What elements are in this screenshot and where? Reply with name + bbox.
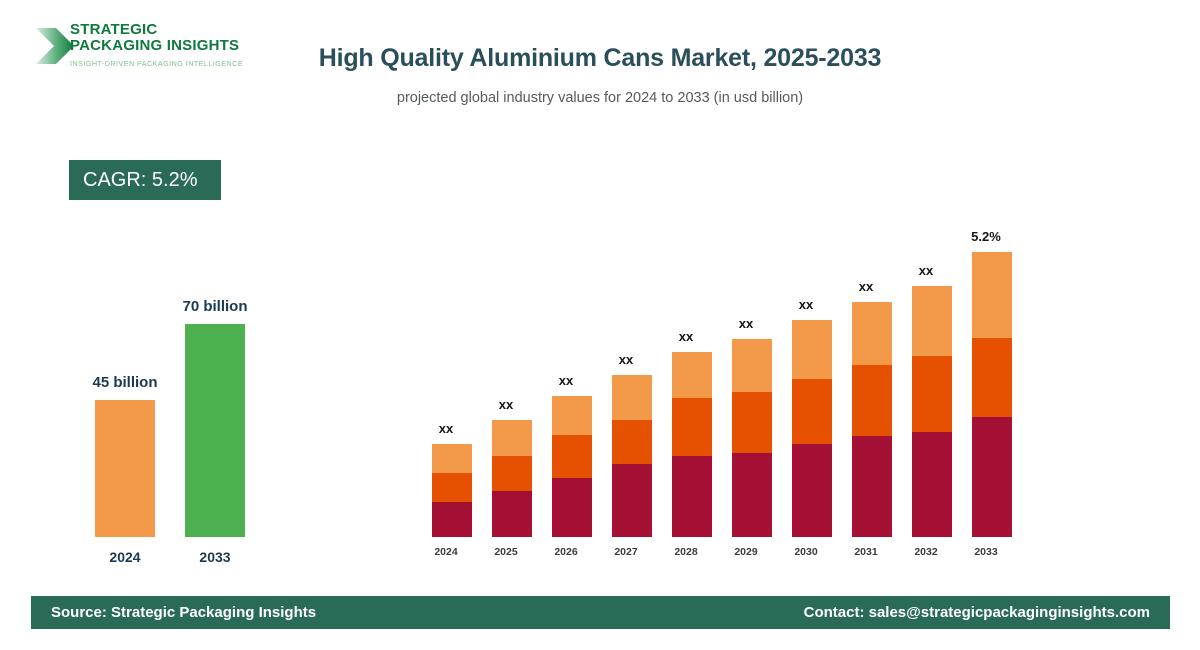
stacked-bar-segment bbox=[432, 473, 472, 502]
stacked-bar-segment bbox=[672, 398, 712, 455]
stacked-bar-column: xx2029 bbox=[716, 200, 776, 560]
stacked-bar-segment bbox=[732, 392, 772, 453]
endpoint-comparison-chart: 45 billion202470 billion2033 bbox=[40, 300, 300, 570]
footer-source: Source: Strategic Packaging Insights bbox=[51, 604, 316, 621]
stacked-bar-segment bbox=[492, 491, 532, 537]
bar-value-label: 45 billion bbox=[80, 374, 170, 391]
logo-line-1: STRATEGIC bbox=[70, 22, 280, 38]
stacked-bar-segment bbox=[612, 420, 652, 464]
stacked-bar bbox=[492, 420, 532, 537]
bar-value-label: 70 billion bbox=[170, 298, 260, 315]
stacked-bar-column: xx2026 bbox=[536, 200, 596, 560]
stacked-bar-column: xx2030 bbox=[776, 200, 836, 560]
stacked-bar-segment bbox=[552, 478, 592, 537]
bar-top-label: xx bbox=[656, 329, 716, 344]
brand-logo: STRATEGIC PACKAGING INSIGHTS INSIGHT-DRI… bbox=[32, 16, 282, 80]
bar-top-label: xx bbox=[716, 316, 776, 331]
stacked-bar-segment bbox=[912, 432, 952, 537]
stacked-bar-segment bbox=[672, 352, 712, 398]
bar bbox=[185, 324, 245, 537]
x-axis-label: 2025 bbox=[476, 546, 536, 558]
chart-header: High Quality Aluminium Cans Market, 2025… bbox=[300, 40, 900, 108]
bar-top-label: xx bbox=[836, 279, 896, 294]
stacked-bar-segment bbox=[852, 365, 892, 436]
cagr-label: CAGR: 5.2% bbox=[83, 169, 197, 192]
stacked-bar bbox=[972, 252, 1012, 537]
x-axis-label: 2028 bbox=[656, 546, 716, 558]
stacked-bar-segment bbox=[552, 435, 592, 477]
stacked-bar bbox=[792, 320, 832, 537]
stacked-bar-segment bbox=[732, 453, 772, 537]
x-axis-label: 2032 bbox=[896, 546, 956, 558]
stacked-bar-column: xx2025 bbox=[476, 200, 536, 560]
bar-column: 70 billion2033 bbox=[170, 300, 260, 570]
stacked-bar bbox=[672, 352, 712, 537]
stacked-bar-segment bbox=[852, 302, 892, 365]
stacked-bar-column: 5.2%2033 bbox=[956, 200, 1016, 560]
x-axis-label: 2033 bbox=[170, 549, 260, 565]
stacked-bar bbox=[852, 302, 892, 537]
bar-top-label: xx bbox=[476, 397, 536, 412]
stacked-bar-segment bbox=[972, 338, 1012, 418]
stacked-bar-segment bbox=[792, 320, 832, 379]
logo-tagline: INSIGHT-DRIVEN PACKAGING INTELLIGENCE bbox=[70, 58, 280, 70]
x-axis-label: 2030 bbox=[776, 546, 836, 558]
stacked-bar-segment bbox=[492, 456, 532, 491]
stacked-bar bbox=[552, 396, 592, 537]
stacked-bar-segment bbox=[972, 417, 1012, 537]
stacked-bar-segment bbox=[732, 339, 772, 392]
bar-column: 45 billion2024 bbox=[80, 300, 170, 570]
stacked-bar-segment bbox=[792, 379, 832, 444]
stacked-bar-column: xx2024 bbox=[416, 200, 476, 560]
bar-top-label: xx bbox=[596, 352, 656, 367]
stacked-bar-segment bbox=[972, 252, 1012, 338]
logo-line-2: PACKAGING INSIGHTS bbox=[70, 38, 280, 54]
stacked-bar bbox=[432, 444, 472, 537]
x-axis-label: 2027 bbox=[596, 546, 656, 558]
bar-top-label: 5.2% bbox=[956, 229, 1016, 244]
x-axis-label: 2029 bbox=[716, 546, 776, 558]
cagr-badge: CAGR: 5.2% bbox=[69, 160, 221, 200]
stacked-bar bbox=[612, 375, 652, 537]
stacked-bar-segment bbox=[612, 464, 652, 537]
page-subtitle: projected global industry values for 202… bbox=[300, 88, 900, 108]
stacked-bar-segment bbox=[432, 502, 472, 537]
x-axis-label: 2033 bbox=[956, 546, 1016, 558]
x-axis-label: 2024 bbox=[80, 549, 170, 565]
x-axis-label: 2024 bbox=[416, 546, 476, 558]
stacked-bar bbox=[732, 339, 772, 537]
stacked-bar-segment bbox=[792, 444, 832, 537]
stacked-bar-segment bbox=[852, 436, 892, 537]
x-axis-label: 2026 bbox=[536, 546, 596, 558]
stacked-bar-column: xx2027 bbox=[596, 200, 656, 560]
x-axis-label: 2031 bbox=[836, 546, 896, 558]
footer-bar: Source: Strategic Packaging Insights Con… bbox=[31, 596, 1170, 629]
stacked-bar-segment bbox=[912, 356, 952, 431]
stacked-bar-segment bbox=[492, 420, 532, 456]
projected-values-stacked-chart: xx2024xx2025xx2026xx2027xx2028xx2029xx20… bbox=[400, 200, 1020, 560]
stacked-bar bbox=[912, 286, 952, 537]
stacked-bar-segment bbox=[432, 444, 472, 473]
stacked-bar-column: xx2032 bbox=[896, 200, 956, 560]
bar-top-label: xx bbox=[896, 263, 956, 278]
stacked-bar-segment bbox=[672, 456, 712, 537]
bar bbox=[95, 400, 155, 537]
bar-top-label: xx bbox=[536, 373, 596, 388]
stacked-bar-segment bbox=[552, 396, 592, 435]
stacked-bar-segment bbox=[612, 375, 652, 420]
page-title: High Quality Aluminium Cans Market, 2025… bbox=[300, 40, 900, 76]
stacked-bar-column: xx2031 bbox=[836, 200, 896, 560]
bar-top-label: xx bbox=[776, 297, 836, 312]
bar-top-label: xx bbox=[416, 421, 476, 436]
footer-contact: Contact: sales@strategicpackaginginsight… bbox=[804, 604, 1150, 621]
stacked-bar-column: xx2028 bbox=[656, 200, 716, 560]
stacked-bar-segment bbox=[912, 286, 952, 356]
